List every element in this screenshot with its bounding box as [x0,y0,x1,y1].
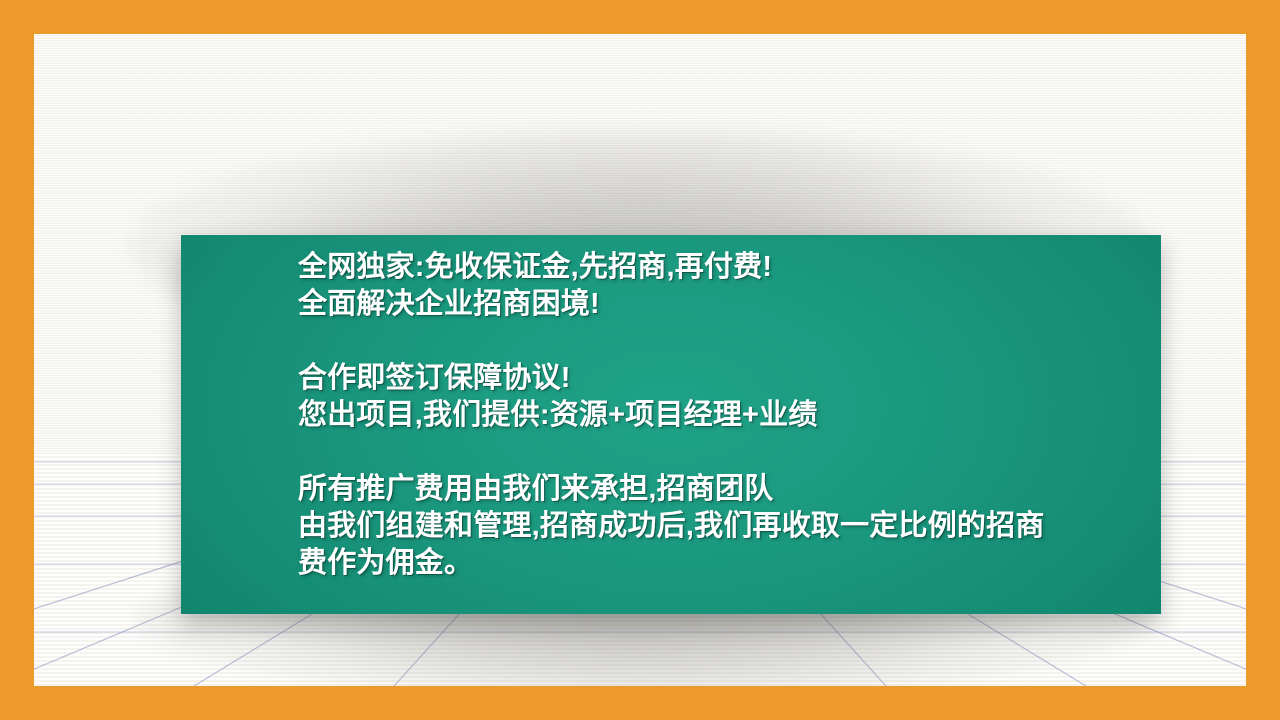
headline-line-2: 全面解决企业招商困境! [298,286,1145,323]
panel-text-container: 全网独家:免收保证金,先招商,再付费! 全面解决企业招商困境! 合作即签订保障协… [298,249,1145,582]
slide-frame: 全网独家:免收保证金,先招商,再付费! 全面解决企业招商困境! 合作即签订保障协… [0,0,1280,720]
terms-line-2: 由我们组建和管理,招商成功后,我们再收取一定比例的招商 [298,508,1145,545]
headline-line-1: 全网独家:免收保证金,先招商,再付费! [298,249,1145,286]
terms-line-1: 所有推广费用由我们来承担,招商团队 [298,471,1145,508]
room-stage: 全网独家:免收保证金,先招商,再付费! 全面解决企业招商困境! 合作即签订保障协… [34,34,1246,686]
green-message-panel: 全网独家:免收保证金,先招商,再付费! 全面解决企业招商困境! 合作即签订保障协… [181,235,1161,614]
agreement-line-2: 您出项目,我们提供:资源+项目经理+业绩 [298,397,1145,434]
terms-line-3: 费作为佣金。 [298,545,1145,582]
agreement-line-1: 合作即签订保障协议! [298,360,1145,397]
paragraph-gap-2 [298,434,1145,471]
paragraph-gap-1 [298,323,1145,360]
